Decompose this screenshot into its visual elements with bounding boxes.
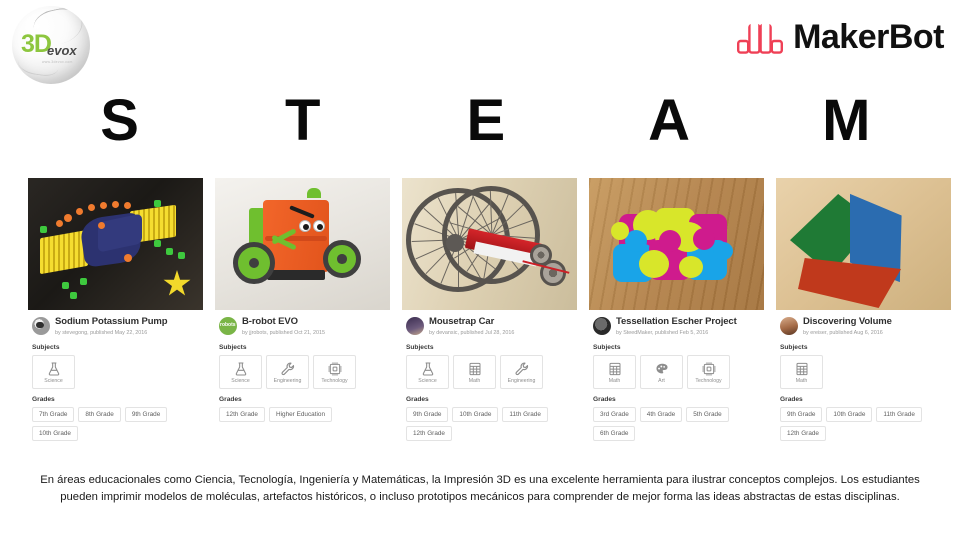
project-card[interactable]: Mousetrap Car by devansic, published Jul… xyxy=(402,178,577,463)
chip-icon xyxy=(701,361,717,377)
subject-chip-list: Science Math xyxy=(406,355,573,389)
tessellation-curve xyxy=(713,242,733,260)
subject-chip-list: Math xyxy=(780,355,947,389)
grade-chip[interactable]: 5th Grade xyxy=(686,407,728,422)
robot-base-shape xyxy=(267,270,325,280)
robot-eye-shape xyxy=(313,220,325,232)
mousetrap-car-thumbnail[interactable] xyxy=(402,178,577,310)
logo-tagline: www.3devox.com xyxy=(42,60,73,64)
b-robot-evo-thumbnail[interactable] xyxy=(215,178,390,310)
subject-chip[interactable]: Technology xyxy=(687,355,730,389)
card-meta: Mousetrap Car by devansic, published Jul… xyxy=(402,310,577,441)
subject-chip[interactable]: Science xyxy=(406,355,449,389)
cube-shape xyxy=(80,278,87,285)
avatar-stevegong[interactable] xyxy=(32,317,50,335)
calculator-icon xyxy=(467,361,483,377)
hub-shape xyxy=(446,234,464,252)
flask-icon xyxy=(233,361,249,377)
tessellation-curve xyxy=(693,228,715,250)
sodium-potassium-pump-thumbnail[interactable] xyxy=(28,178,203,310)
grade-chip[interactable]: 9th Grade xyxy=(406,407,448,422)
bead-shape xyxy=(64,214,72,222)
cube-shape xyxy=(154,200,161,207)
avatar-steedmaker[interactable] xyxy=(593,317,611,335)
burst-shape xyxy=(163,270,191,298)
grade-chip[interactable]: 11th Grade xyxy=(502,407,548,422)
subject-chip[interactable]: Math xyxy=(593,355,636,389)
bead-shape xyxy=(124,254,132,262)
subject-chip[interactable]: Technology xyxy=(313,355,356,389)
subject-name: Math xyxy=(469,378,481,384)
project-byline: by jjrobots, published Oct 21, 2015 xyxy=(242,329,325,337)
wrench-icon xyxy=(514,361,530,377)
grades-label: Grades xyxy=(593,396,760,403)
bead-shape xyxy=(100,202,107,209)
makerbot-logo: MakerBot xyxy=(737,20,944,54)
grade-chip[interactable]: 11th Grade xyxy=(876,407,922,422)
project-card[interactable]: Sodium Potassium Pump by stevegong, publ… xyxy=(28,178,203,463)
bead-shape xyxy=(124,202,131,209)
grade-chip[interactable]: 3rd Grade xyxy=(593,407,636,422)
subject-name: Science xyxy=(231,378,249,384)
card-meta: B-robot EVO by jjrobots, published Oct 2… xyxy=(215,310,390,422)
subject-chip[interactable]: Science xyxy=(219,355,262,389)
subject-chip[interactable]: Math xyxy=(453,355,496,389)
subjects-label: Subjects xyxy=(32,344,199,351)
subject-name: Technology xyxy=(695,378,721,384)
chip-icon xyxy=(327,361,343,377)
robot-eye-shape xyxy=(299,220,311,232)
grade-chip-list: 3rd Grade 4th Grade 5th Grade 6th Grade xyxy=(593,407,760,441)
subjects-label: Subjects xyxy=(780,344,947,351)
grade-chip[interactable]: 6th Grade xyxy=(593,426,635,441)
card-meta: Sodium Potassium Pump by stevegong, publ… xyxy=(28,310,203,441)
robot-ear-shape xyxy=(307,188,321,198)
card-title-row: Mousetrap Car by devansic, published Jul… xyxy=(406,316,573,337)
avatar-jjrobots[interactable] xyxy=(219,317,237,335)
grade-chip-list: 12th Grade Higher Education xyxy=(219,407,386,422)
steam-letter-s: S xyxy=(28,90,211,152)
avatar-devansic[interactable] xyxy=(406,317,424,335)
grade-chip[interactable]: 9th Grade xyxy=(125,407,167,422)
grade-chip[interactable]: 7th Grade xyxy=(32,407,74,422)
project-card[interactable]: Discovering Volume by ereiser, published… xyxy=(776,178,951,463)
grade-chip[interactable]: 10th Grade xyxy=(452,407,498,422)
grade-chip[interactable]: Higher Education xyxy=(269,407,332,422)
project-card[interactable]: Tessellation Escher Project by SteedMake… xyxy=(589,178,764,463)
tessellation-curve xyxy=(639,250,669,278)
grades-label: Grades xyxy=(219,396,386,403)
subject-name: Math xyxy=(796,378,808,384)
makerbot-mark-icon xyxy=(737,20,783,54)
calculator-icon xyxy=(794,361,810,377)
grade-chip[interactable]: 8th Grade xyxy=(78,407,120,422)
steam-letter-m: M xyxy=(761,90,932,152)
subjects-label: Subjects xyxy=(219,344,386,351)
subject-name: Technology xyxy=(321,378,347,384)
card-title-row: Tessellation Escher Project by SteedMake… xyxy=(593,316,760,337)
grade-chip[interactable]: 12th Grade xyxy=(219,407,265,422)
subject-name: Engineering xyxy=(274,378,302,384)
project-card[interactable]: B-robot EVO by jjrobots, published Oct 2… xyxy=(215,178,390,463)
grade-chip-list: 9th Grade 10th Grade 11th Grade 12th Gra… xyxy=(780,407,947,441)
avatar-ereiser[interactable] xyxy=(780,317,798,335)
grades-label: Grades xyxy=(406,396,573,403)
card-title-row: Discovering Volume by ereiser, published… xyxy=(780,316,947,337)
subject-name: Math xyxy=(609,378,621,384)
steam-letter-t: T xyxy=(211,90,394,152)
grade-chip[interactable]: 10th Grade xyxy=(32,426,78,441)
grades-label: Grades xyxy=(780,396,947,403)
subjects-label: Subjects xyxy=(406,344,573,351)
tessellation-curve xyxy=(611,222,629,240)
grade-chip[interactable]: 10th Grade xyxy=(826,407,872,422)
grades-label: Grades xyxy=(32,396,199,403)
subject-name: Science xyxy=(418,378,436,384)
project-byline: by SteedMaker, published Feb 5, 2016 xyxy=(616,329,737,337)
tessellation-escher-project-thumbnail[interactable] xyxy=(589,178,764,310)
grade-chip[interactable]: 9th Grade xyxy=(780,407,822,422)
project-title[interactable]: Discovering Volume xyxy=(803,316,892,328)
project-title[interactable]: B-robot EVO xyxy=(242,316,325,328)
grade-chip[interactable]: 4th Grade xyxy=(640,407,682,422)
cube-shape xyxy=(70,292,77,299)
subject-chip-list: Math Art xyxy=(593,355,760,389)
cube-shape xyxy=(40,226,47,233)
grade-chip[interactable]: 12th Grade xyxy=(780,426,826,441)
bead-shape xyxy=(56,220,63,227)
grade-chip-list: 7th Grade 8th Grade 9th Grade 10th Grade xyxy=(32,407,199,441)
tessellation-curve xyxy=(679,256,703,278)
flask-icon xyxy=(420,361,436,377)
bead-shape xyxy=(76,208,83,215)
wrench-icon xyxy=(280,361,296,377)
project-byline: by devansic, published Jul 28, 2016 xyxy=(429,329,514,337)
card-meta: Discovering Volume by ereiser, published… xyxy=(776,310,951,441)
robot-wheel-shape xyxy=(323,240,361,278)
bead-shape xyxy=(98,222,105,229)
subject-name: Science xyxy=(44,378,62,384)
3devox-logo: 3D evox www.3devox.com xyxy=(12,6,90,84)
logo-evox-text: evox xyxy=(47,44,77,57)
cube-shape xyxy=(178,252,185,259)
calculator-icon xyxy=(607,361,623,377)
steam-letter-e: E xyxy=(394,90,577,152)
subject-chip[interactable]: Math xyxy=(780,355,823,389)
grade-chip[interactable]: 12th Grade xyxy=(406,426,452,441)
steam-letter-a: A xyxy=(577,90,760,152)
caption-paragraph: En áreas educacionales como Ciencia, Tec… xyxy=(22,472,938,506)
card-title-row: Sodium Potassium Pump by stevegong, publ… xyxy=(32,316,199,337)
palette-icon xyxy=(654,361,670,377)
flask-icon xyxy=(46,361,62,377)
robot-wheel-shape xyxy=(233,242,275,284)
tessellation-curve xyxy=(659,230,681,252)
project-title[interactable]: Sodium Potassium Pump xyxy=(55,316,167,328)
steam-letter-row: S T E A M xyxy=(28,90,932,152)
subject-name: Art xyxy=(658,378,665,384)
project-card-grid: Sodium Potassium Pump by stevegong, publ… xyxy=(28,178,934,463)
project-title[interactable]: Mousetrap Car xyxy=(429,316,514,328)
subject-chip[interactable]: Engineering xyxy=(266,355,309,389)
cube-shape xyxy=(166,248,173,255)
project-title[interactable]: Tessellation Escher Project xyxy=(616,316,737,328)
makerbot-wordmark: MakerBot xyxy=(793,20,944,54)
bead-shape xyxy=(112,201,119,208)
subject-chip-list: Science xyxy=(32,355,199,389)
grade-chip-list: 9th Grade 10th Grade 11th Grade 12th Gra… xyxy=(406,407,573,441)
project-byline: by stevegong, published May 22, 2016 xyxy=(55,329,167,337)
project-byline: by ereiser, published Aug 6, 2016 xyxy=(803,329,892,337)
subjects-label: Subjects xyxy=(593,344,760,351)
cube-shape xyxy=(62,282,69,289)
subject-chip[interactable]: Engineering xyxy=(500,355,543,389)
card-title-row: B-robot EVO by jjrobots, published Oct 2… xyxy=(219,316,386,337)
subject-chip[interactable]: Art xyxy=(640,355,683,389)
cube-shape xyxy=(154,240,161,247)
subject-name: Engineering xyxy=(508,378,536,384)
subject-chip-list: Science Engineering xyxy=(219,355,386,389)
card-meta: Tessellation Escher Project by SteedMake… xyxy=(589,310,764,441)
discovering-volume-thumbnail[interactable] xyxy=(776,178,951,310)
subject-chip[interactable]: Science xyxy=(32,355,75,389)
bead-shape xyxy=(88,204,95,211)
